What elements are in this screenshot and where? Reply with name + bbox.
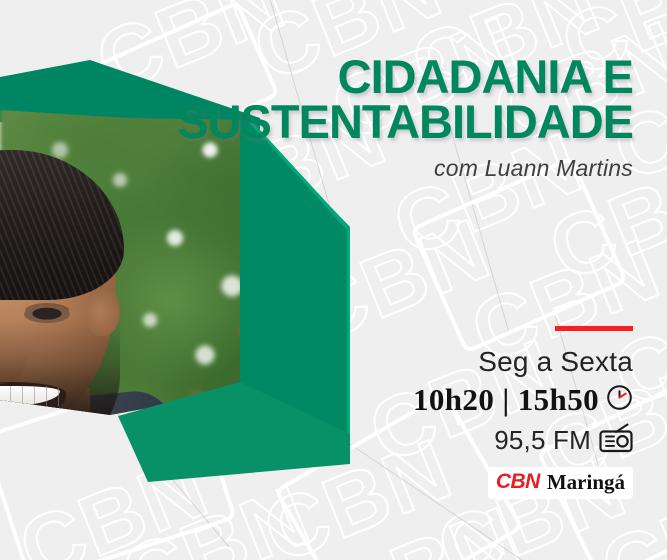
red-accent-rule	[555, 326, 633, 331]
schedule-block: Seg a Sexta 10h20 | 15h50 95,5 FM	[333, 326, 633, 499]
decor-outline-shape	[410, 156, 629, 354]
schedule-times-row: 10h20 | 15h50	[333, 382, 633, 418]
frequency-value: 95,5 FM	[494, 425, 591, 456]
station-logo: CBN Maringá	[488, 467, 633, 499]
shirt-shape	[5, 429, 110, 560]
frequency-row: 95,5 FM	[333, 423, 633, 458]
program-host: com Luann Martins	[163, 155, 633, 182]
program-title: CIDADANIA E SUSTENTABILIDADE	[163, 54, 633, 144]
schedule-times: 10h20 | 15h50	[413, 382, 599, 418]
schedule-days: Seg a Sexta	[333, 347, 633, 378]
logo-network-name: CBN	[496, 470, 540, 494]
program-title-line-2: SUSTENTABILIDADE	[163, 99, 633, 144]
program-banner: CBNCBNCBNCBNCBNCBNCBNCBNCBNCBNCBNCBNCBNC…	[0, 0, 667, 560]
station-logo-row: CBN Maringá	[333, 467, 633, 499]
logo-city-name: Maringá	[547, 470, 625, 495]
radio-icon	[599, 423, 633, 458]
program-title-line-1: CIDADANIA E	[163, 54, 633, 99]
clock-icon	[606, 384, 633, 416]
